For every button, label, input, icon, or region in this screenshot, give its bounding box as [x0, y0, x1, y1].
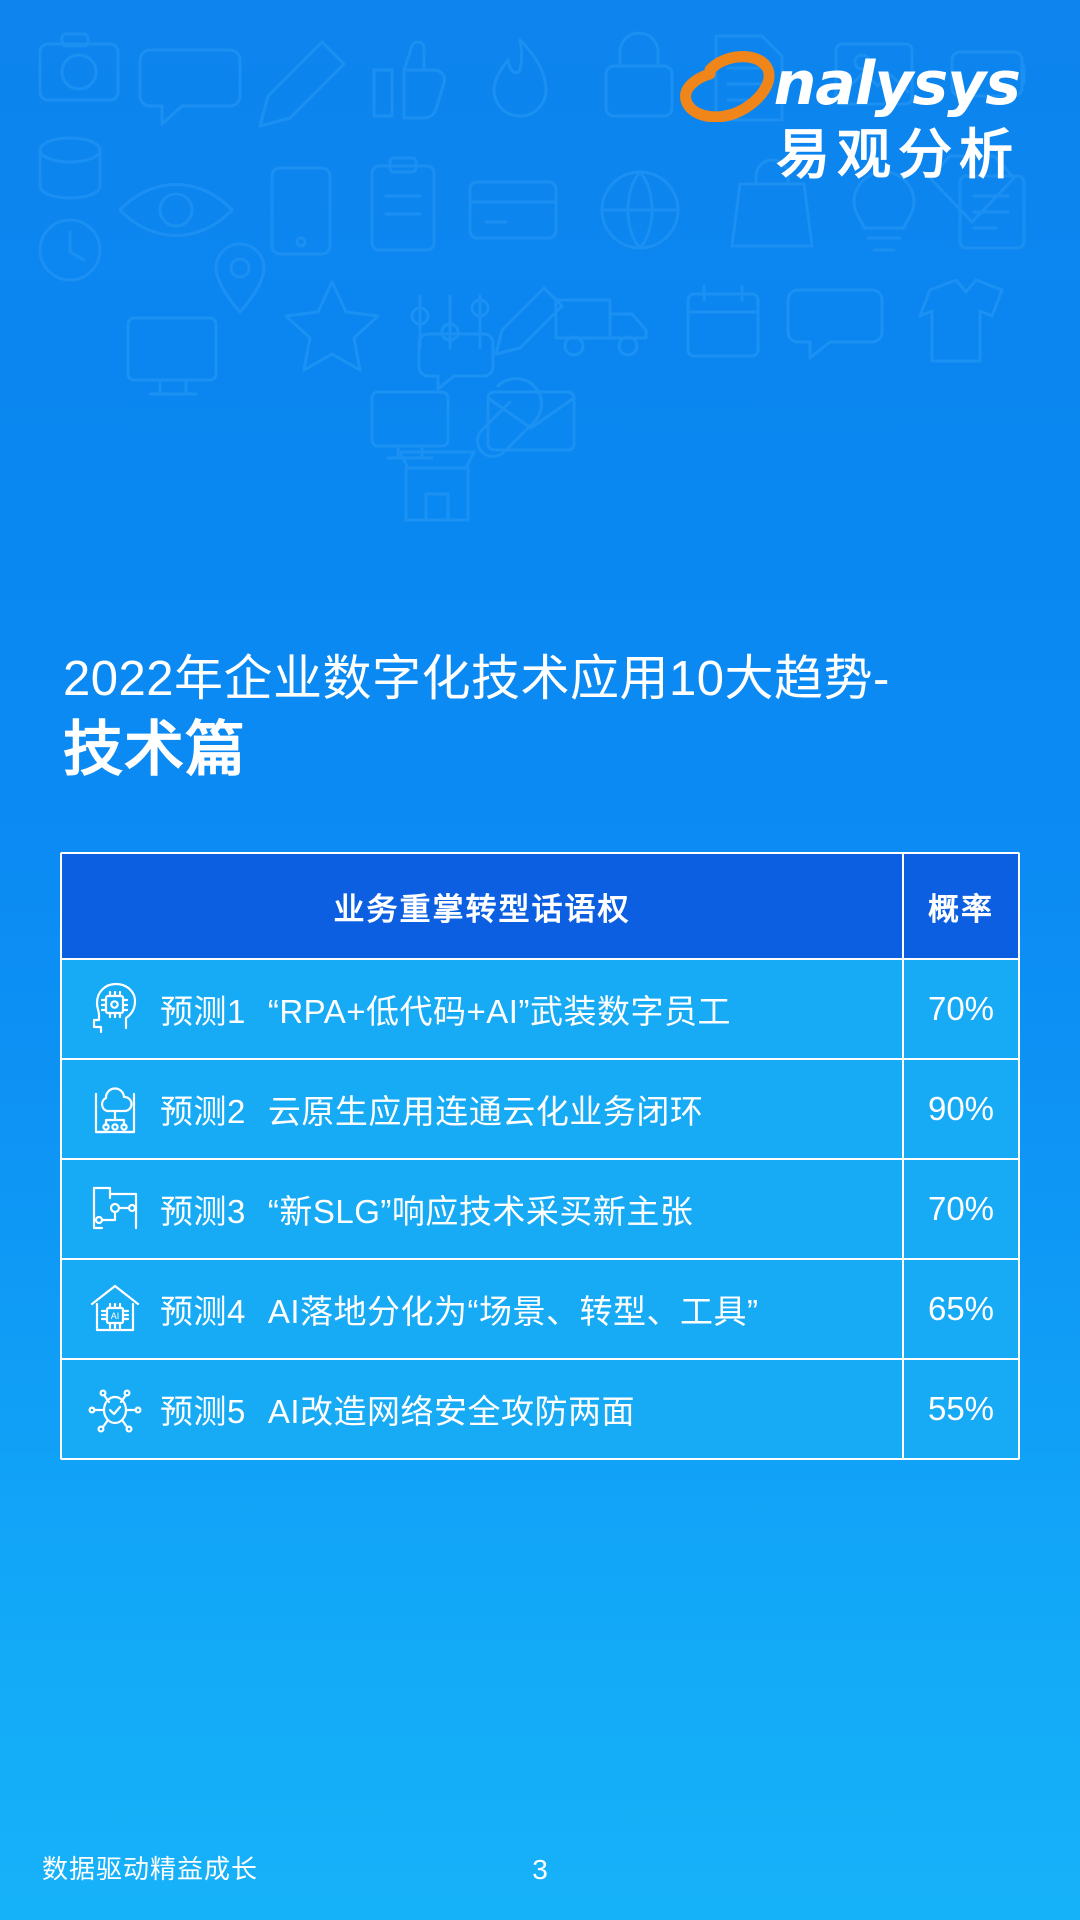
row-label: AI落地分化为“场景、转型、工具” [268, 1285, 759, 1333]
row-probability: 70% [902, 1160, 1018, 1258]
house-ai-chip-icon: AI [84, 1278, 146, 1340]
row-main-cell: 预测1 “RPA+低代码+AI”武装数字员工 [62, 960, 902, 1058]
logo-wordmark: nalysys [722, 46, 1022, 122]
table-row[interactable]: 预测1 “RPA+低代码+AI”武装数字员工 70% [62, 958, 1018, 1058]
row-probability: 65% [902, 1260, 1018, 1358]
row-number: 预测3 [160, 1185, 246, 1233]
table-header-row: 业务重掌转型话语权 概率 [62, 854, 1018, 958]
title-line-1: 2022年企业数字化技术应用10大趋势- [63, 648, 1023, 710]
row-probability: 55% [902, 1360, 1018, 1458]
head-chip-icon [84, 978, 146, 1040]
predictions-table: 业务重掌转型话语权 概率 预测1 “RPA+低代码+AI”武装数字员工 70% [60, 852, 1020, 1460]
security-network-icon [84, 1378, 146, 1440]
svg-text:AI: AI [111, 1311, 120, 1321]
logo-chinese-name: 易观分析 [722, 124, 1022, 186]
table-row[interactable]: 预测2 云原生应用连通云化业务闭环 90% [62, 1058, 1018, 1158]
flowchart-node-icon [84, 1178, 146, 1240]
header-cell-main: 业务重掌转型话语权 [62, 854, 902, 958]
row-main-cell: AI 预测4 AI落地分化为“场景、转型、工具” [62, 1260, 902, 1358]
page-title: 2022年企业数字化技术应用10大趋势- 技术篇 [63, 648, 1023, 788]
row-main-cell: 预测3 “新SLG”响应技术采买新主张 [62, 1160, 902, 1258]
row-label: 云原生应用连通云化业务闭环 [268, 1085, 704, 1133]
header-cell-probability: 概率 [902, 854, 1018, 958]
row-label: “RPA+低代码+AI”武装数字员工 [268, 985, 731, 1033]
row-probability: 90% [902, 1060, 1018, 1158]
row-number: 预测5 [160, 1385, 246, 1433]
row-number: 预测1 [160, 985, 246, 1033]
row-label: AI改造网络安全攻防两面 [268, 1385, 635, 1433]
row-label: “新SLG”响应技术采买新主张 [268, 1185, 694, 1233]
page-number: 3 [0, 1854, 1080, 1886]
table-row[interactable]: AI 预测4 AI落地分化为“场景、转型、工具” 65% [62, 1258, 1018, 1358]
row-number: 预测2 [160, 1085, 246, 1133]
row-main-cell: 预测5 AI改造网络安全攻防两面 [62, 1360, 902, 1458]
table-row[interactable]: 预测3 “新SLG”响应技术采买新主张 70% [62, 1158, 1018, 1258]
row-probability: 70% [902, 960, 1018, 1058]
slide-background: nalysys 易观分析 2022年企业数字化技术应用10大趋势- 技术篇 业务… [0, 0, 1080, 1920]
title-line-2: 技术篇 [63, 712, 1023, 788]
brand-logo: nalysys 易观分析 [722, 46, 1022, 186]
table-row[interactable]: 预测5 AI改造网络安全攻防两面 55% [62, 1358, 1018, 1458]
row-main-cell: 预测2 云原生应用连通云化业务闭环 [62, 1060, 902, 1158]
analysys-swoosh-icon [680, 50, 776, 122]
cloud-monitor-icon [84, 1078, 146, 1140]
row-number: 预测4 [160, 1285, 246, 1333]
